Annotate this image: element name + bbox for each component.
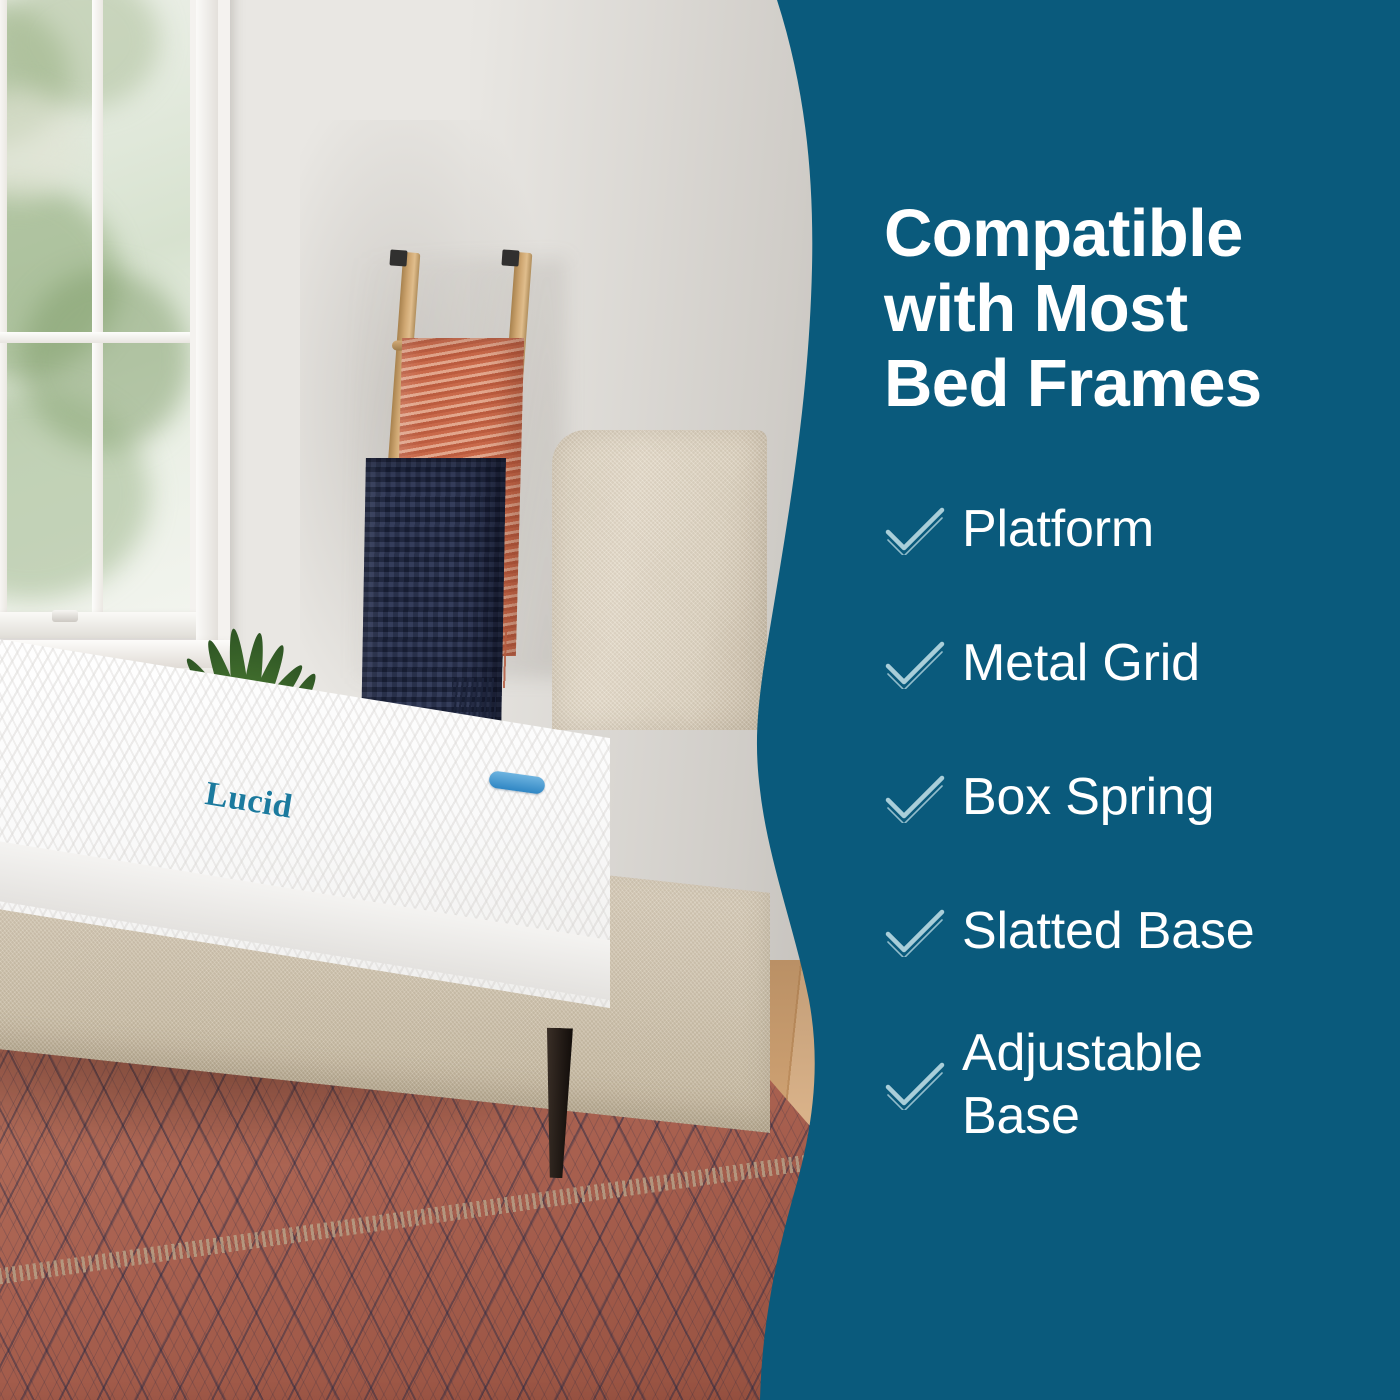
check-icon [884, 773, 962, 823]
feature-list: Platform Metal Grid Bo [884, 486, 1334, 1195]
panel-content: Compatible with Most Bed Frames Platform [884, 0, 1344, 1400]
feature-label: Metal Grid [962, 632, 1200, 695]
bedroom-photo: Lucid [0, 0, 860, 1400]
headboard-texture [552, 430, 767, 730]
window-muntin [0, 0, 7, 620]
panel-heading: Compatible with Most Bed Frames [884, 196, 1314, 421]
check-icon [884, 1060, 962, 1110]
check-icon [884, 907, 962, 957]
window-lock [52, 610, 78, 622]
window-muntin [92, 0, 103, 620]
feature-item-box-spring: Box Spring [884, 754, 1334, 842]
heading-line-3: Bed Frames [884, 346, 1314, 421]
feature-label: Slatted Base [962, 900, 1254, 963]
heading-line-1: Compatible [884, 196, 1314, 271]
feature-label: Box Spring [962, 766, 1214, 829]
feature-item-platform: Platform [884, 486, 1334, 574]
window-muntin [0, 332, 190, 343]
feature-item-adjustable-base: Adjustable Base [884, 1022, 1214, 1149]
ladder-bracket [501, 249, 519, 266]
window-jamb [196, 0, 218, 670]
check-icon [884, 639, 962, 689]
heading-line-2: with Most [884, 271, 1314, 346]
check-icon [884, 505, 962, 555]
feature-item-slatted-base: Slatted Base [884, 888, 1334, 976]
feature-label: Adjustable Base [962, 1022, 1214, 1149]
product-marketing-image: Lucid Compatible with Most Bed Frames Pl… [0, 0, 1400, 1400]
ladder-bracket [389, 249, 407, 266]
headboard [552, 430, 767, 730]
feature-item-metal-grid: Metal Grid [884, 620, 1334, 708]
feature-label: Platform [962, 498, 1154, 561]
